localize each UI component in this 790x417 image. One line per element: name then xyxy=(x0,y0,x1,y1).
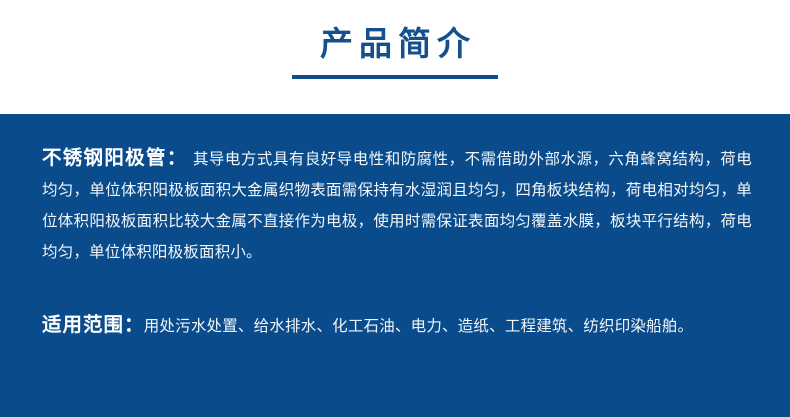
product-description-panel: 不锈钢阳极管：其导电方式具有良好导电性和防腐性，不需借助外部水源，六角蜂窝结构，… xyxy=(0,114,790,417)
title-underline xyxy=(292,75,498,79)
section-product-features: 不锈钢阳极管：其导电方式具有良好导电性和防腐性，不需借助外部水源，六角蜂窝结构，… xyxy=(42,114,752,268)
section-lead-label: 适用范围 xyxy=(42,314,124,336)
section-application-scope: 适用范围：用处污水处置、给水排水、化工石油、电力、造纸、工程建筑、纺织印染船舶。 xyxy=(42,268,752,342)
product-intro-page: 产品简介 不锈钢阳极管：其导电方式具有良好导电性和防腐性，不需借助外部水源，六角… xyxy=(0,0,790,417)
page-title: 产品简介 xyxy=(314,22,476,66)
section-body-text: 用处污水处置、给水排水、化工石油、电力、造纸、工程建筑、纺织印染船舶。 xyxy=(144,318,694,335)
section-lead-colon: ： xyxy=(124,314,144,336)
section-paragraph: 适用范围：用处污水处置、给水排水、化工石油、电力、造纸、工程建筑、纺织印染船舶。 xyxy=(42,310,752,342)
section-paragraph: 不锈钢阳极管：其导电方式具有良好导电性和防腐性，不需借助外部水源，六角蜂窝结构，… xyxy=(42,143,752,268)
page-header: 产品简介 xyxy=(0,0,790,114)
section-lead-label: 不锈钢阳极管 xyxy=(42,147,167,169)
panel-content: 不锈钢阳极管：其导电方式具有良好导电性和防腐性，不需借助外部水源，六角蜂窝结构，… xyxy=(0,114,790,342)
section-lead-colon: ： xyxy=(167,147,187,169)
